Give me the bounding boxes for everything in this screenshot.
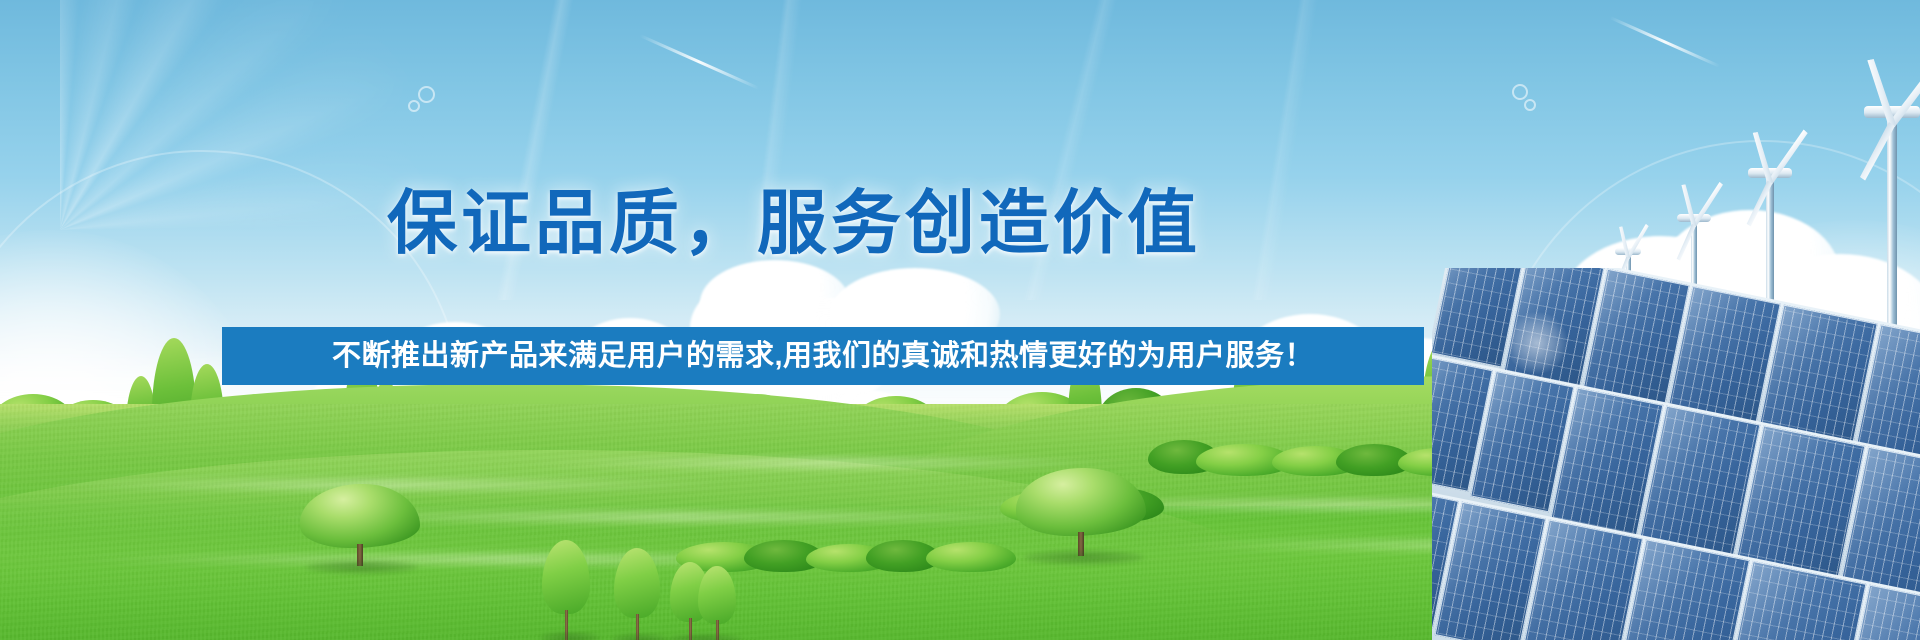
subtitle-text: 不断推出新产品来满足用户的需求,用我们的真诚和热情更好的为用户服务！ [332,342,1314,371]
shrub-icon [926,542,1016,572]
lens-flare-icon [418,86,435,103]
lens-flare-icon [408,100,420,112]
sapling-icon [614,548,660,640]
page-title: 保证品质，服务创造价值 [0,188,1588,258]
subtitle-bar: 不断推出新产品来满足用户的需求,用我们的真诚和热情更好的为用户服务！ [222,327,1424,385]
hero-banner: 保证品质，服务创造价值 不断推出新产品来满足用户的需求,用我们的真诚和热情更好的… [0,0,1920,640]
tree-shadow [612,634,668,640]
lens-flare-icon [1524,99,1536,111]
sapling-icon [698,566,736,640]
tree-shadow [540,632,600,640]
tree-shadow [1024,550,1144,565]
solar-panel-array [1432,268,1920,640]
lone-tree-icon [1016,468,1146,556]
tree-shadow [668,634,742,640]
sapling-icon [542,540,590,640]
tree-shadow [306,560,418,574]
panel-glare-icon [1506,312,1568,374]
lens-flare-icon [1512,84,1528,100]
lone-tree-icon [300,484,420,566]
